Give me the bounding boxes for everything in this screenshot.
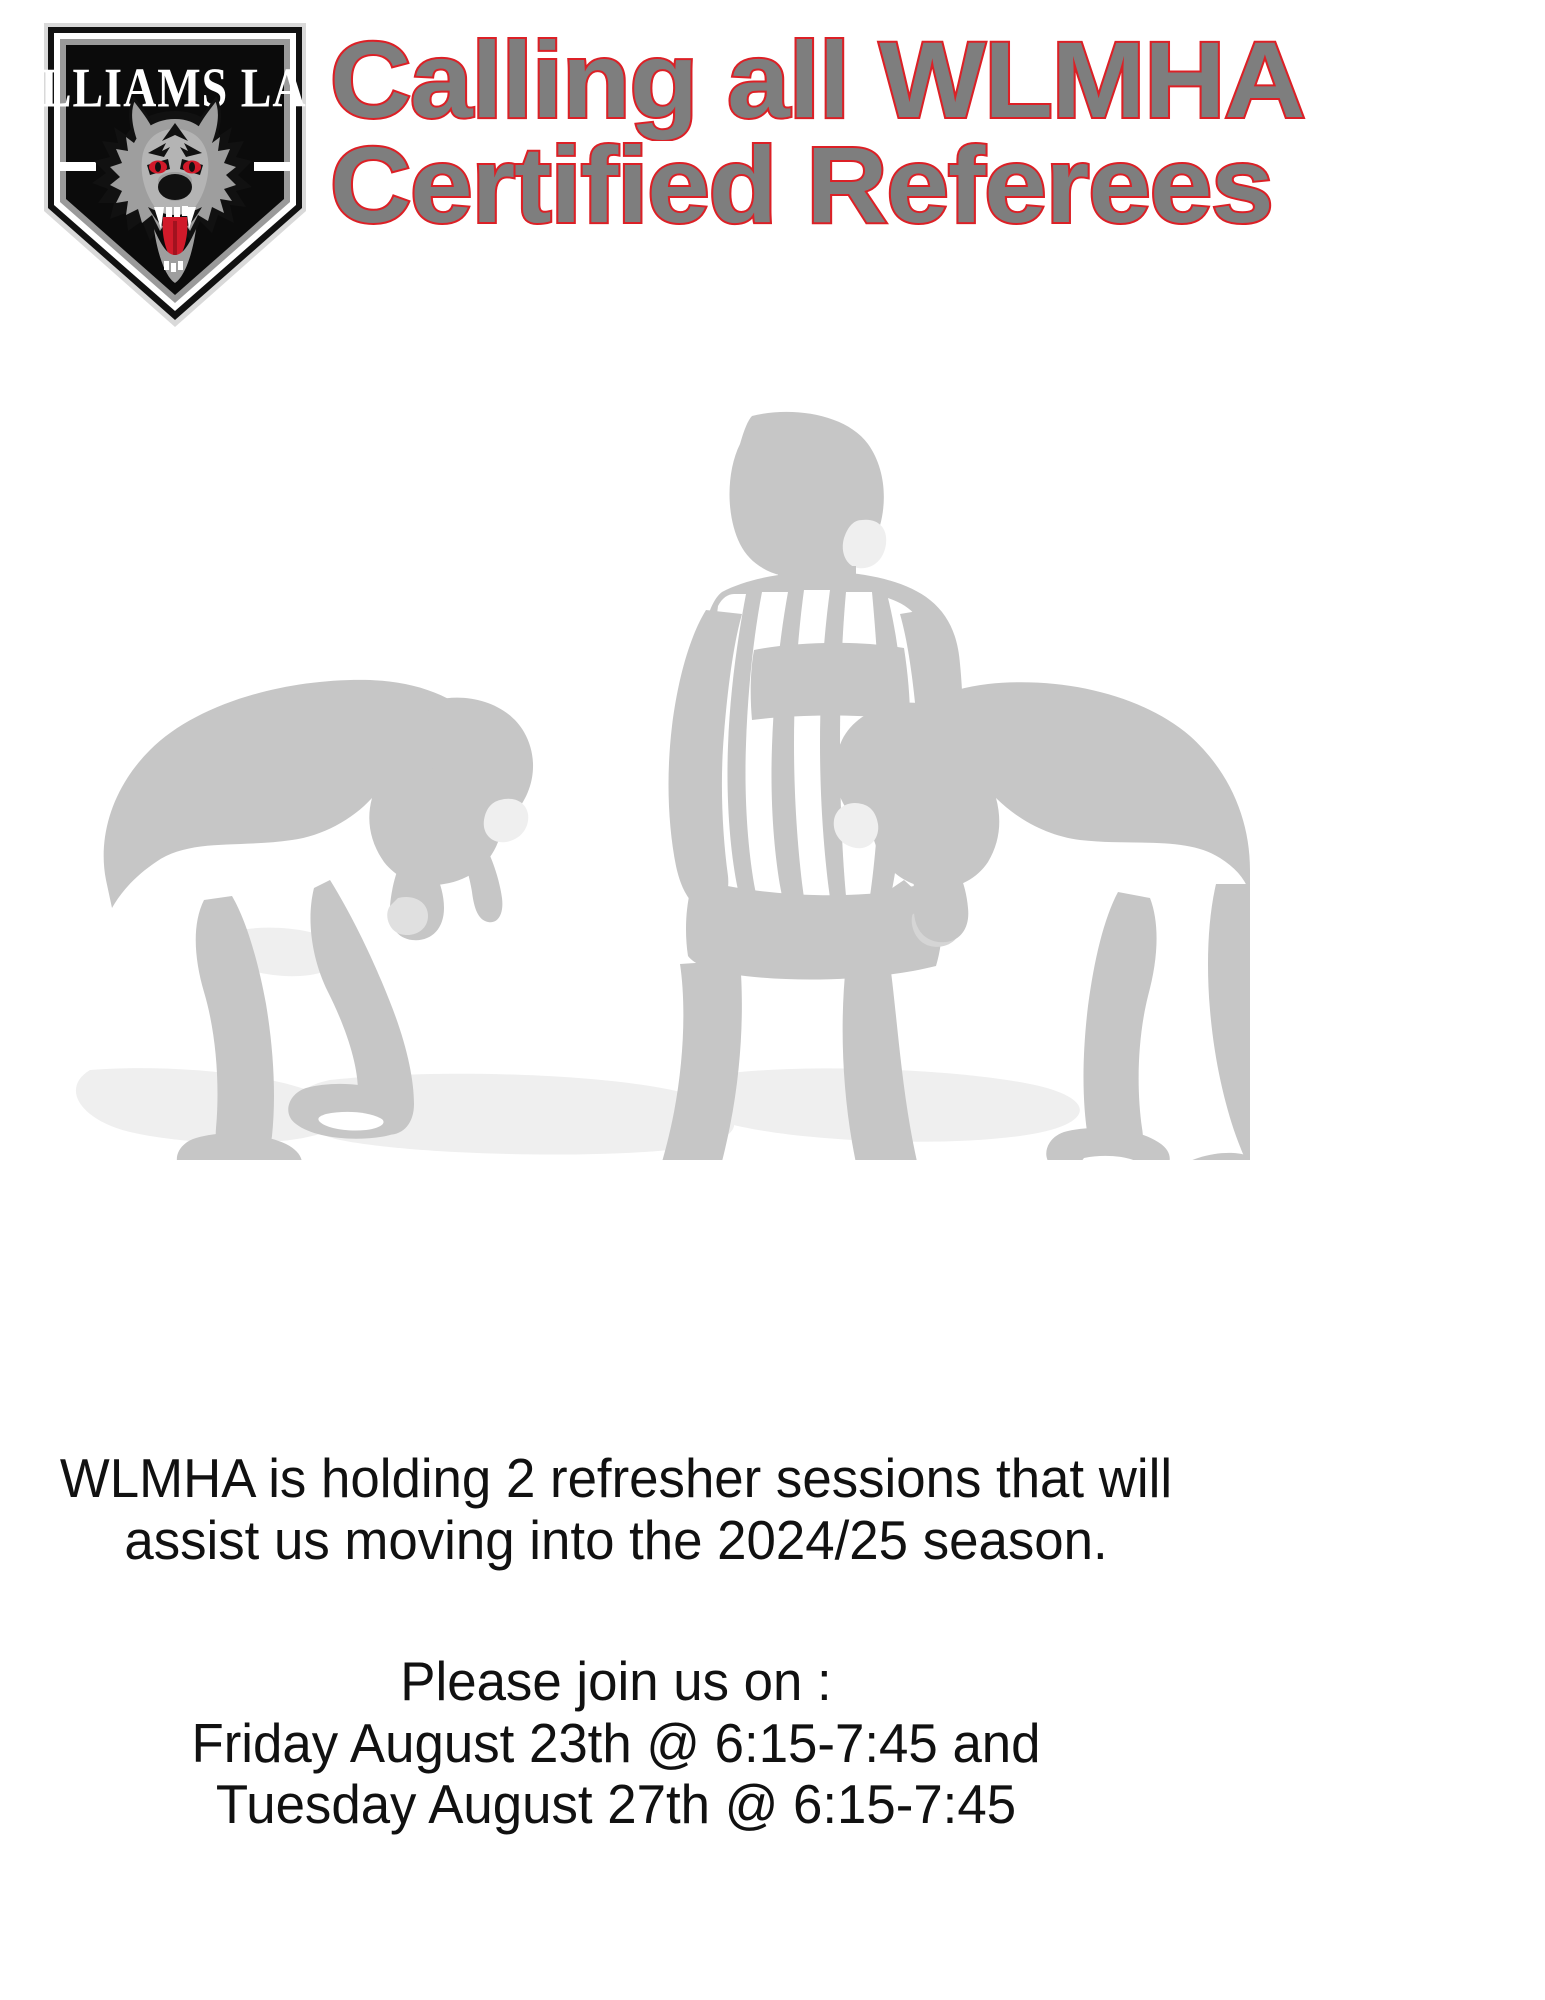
crest-split-left [60,162,96,171]
intro-line-1: WLMHA is holding 2 refresher sessions th… [25,1448,1208,1510]
wolf-nose [158,174,192,200]
crest-split-right [254,162,290,171]
headline-line-1: Calling all WLMHA [330,28,1545,133]
intro-line-2: assist us moving into the 2024/25 season… [25,1510,1208,1572]
join-invitation-line: Please join us on : [25,1651,1208,1713]
session-2-datetime: Tuesday August 27th @ 6:15-7:45 [25,1774,1208,1836]
referee-recruitment-poster: WILLIAMS LAKE [0,0,1545,2000]
wolf-tongue-crease [173,221,177,257]
wolf-teeth-upper [166,206,188,217]
headline-line-2: Certified Referees [330,133,1545,238]
crest-team-name: WILLIAMS LAKE [30,57,320,119]
session-1-datetime: Friday August 23th @ 6:15-7:45 and [25,1713,1208,1775]
hockey-faceoff-silhouettes [0,280,1250,1160]
page-title: Calling all WLMHA Certified Referees [330,28,1520,238]
text-spacer [0,1571,1232,1651]
poster-body-text: WLMHA is holding 2 refresher sessions th… [0,1448,1232,1836]
